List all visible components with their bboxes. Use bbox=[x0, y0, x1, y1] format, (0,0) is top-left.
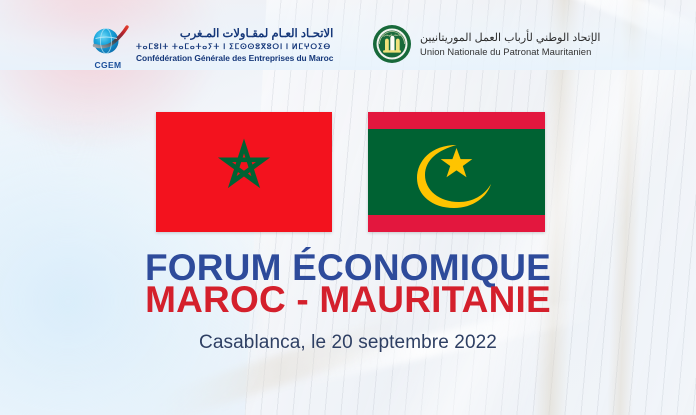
unpm-text-block: الإتحاد الوطني لأرباب العمل الموريتانيين… bbox=[420, 31, 601, 58]
unpm-logo-block: الاتحاد الوطني الإتحاد الوطني لأرباب الع… bbox=[372, 24, 601, 64]
cgem-wordmark: CGEM bbox=[86, 60, 130, 70]
unpm-french-name: Union Nationale du Patronat Mauritanien bbox=[420, 46, 601, 58]
morocco-pentagram-icon bbox=[225, 146, 263, 182]
morocco-flag bbox=[156, 112, 332, 232]
event-date-line: Casablanca, le 20 septembre 2022 bbox=[0, 332, 696, 354]
unpm-arabic-name: الإتحاد الوطني لأرباب العمل الموريتانيين bbox=[420, 31, 601, 45]
event-banner: CGEM الاتحـاد العـام لمقـاولات المـغرب ⵜ… bbox=[0, 0, 696, 415]
background-light-streak-low bbox=[152, 316, 409, 415]
unpm-seal-logo-icon: الاتحاد الوطني bbox=[372, 24, 412, 64]
cgem-tifinagh-name: ⵜⴰⵎⵓⵏⵜ ⵜⴰⵎⴰⵜⴰⵢⵜ ⵏ ⵉⵎⵙⵙⵓⴳⵓⵔⵏ ⵏ ⵍⵎⵖⵔⵉⴱ bbox=[136, 42, 333, 52]
mauritania-crescent-and-star-icon bbox=[417, 145, 491, 208]
cgem-french-name: Confédération Générale des Entreprises d… bbox=[136, 53, 333, 64]
cgem-logo-block: CGEM الاتحـاد العـام لمقـاولات المـغرب ⵜ… bbox=[86, 22, 333, 70]
cgem-text-block: الاتحـاد العـام لمقـاولات المـغرب ⵜⴰⵎⵓⵏⵜ… bbox=[136, 28, 333, 64]
logo-row: CGEM الاتحـاد العـام لمقـاولات المـغرب ⵜ… bbox=[0, 22, 696, 76]
page-title-line2: MAROC - MAURITANIE bbox=[0, 280, 696, 320]
cgem-globe-logo-icon: CGEM bbox=[86, 22, 130, 70]
mauritania-flag bbox=[368, 112, 545, 232]
cgem-arabic-name: الاتحـاد العـام لمقـاولات المـغرب bbox=[136, 28, 333, 41]
